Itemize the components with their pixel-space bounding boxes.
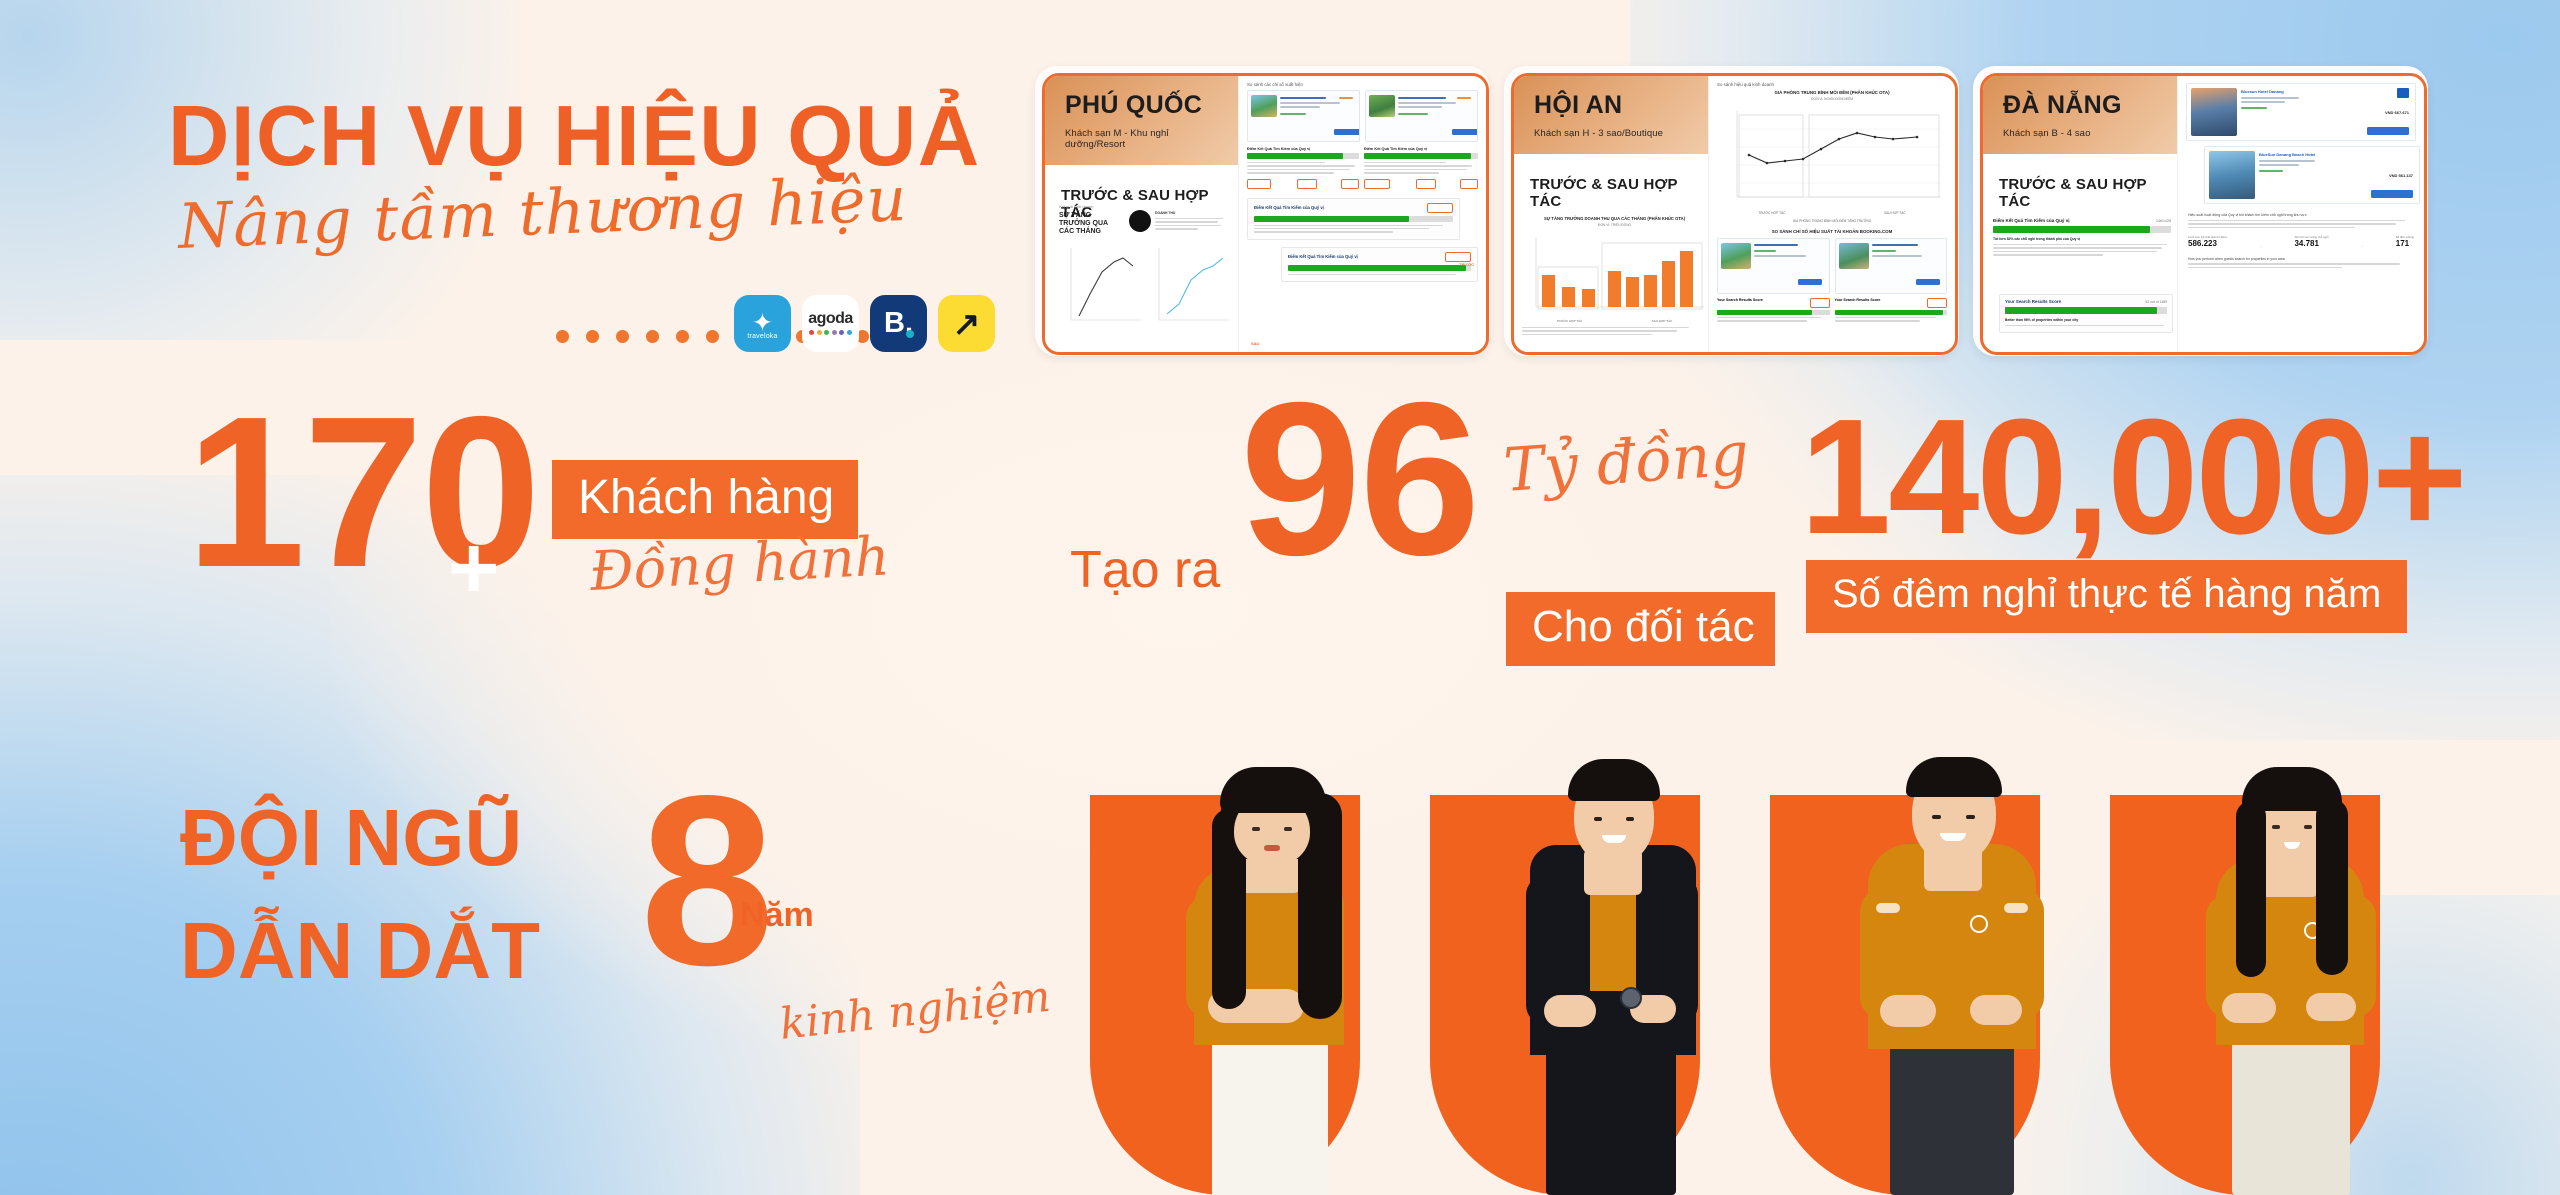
hotel-name-2: BlueSun Danang Beach Hotel [2259,152,2315,157]
card-report-panel: So sánh hiệu quả kinh doanh GIÁ PHÒNG TR… [1708,76,1955,352]
card-subtitle: Khách sạn M - Khu nghỉ dưỡng/Resort [1065,128,1228,150]
stat-room-nights-number: 140,000+ [1800,408,2465,546]
stat-clients-plus: + [448,524,499,612]
card-badge: PHÚ QUỐC Khách sạn M - Khu nghỉ dưỡng/Re… [1045,76,1238,165]
card-chart-caption: SỰ TĂNG TRƯỞNG QUA CÁC THÁNG [1059,212,1121,236]
card-score-value-en: 92 out of 1489 [2145,300,2167,304]
team-years-number: 8 [640,782,775,980]
card-section2-title: SO SÁNH CHỈ SỐ HIỆU SUẤT TÁI KHOẢN BOOKI… [1709,229,1955,234]
banner-root: DỊCH VỤ HIỆU QUẢ Nâng tầm thương hiệu ✦ … [0,0,2560,1195]
card-report-panel: Bluesun Hotel Danang VND 667.671 BlueSun… [2177,76,2424,352]
metric-1: 586.223 [2188,239,2227,248]
card-chart-caption: SỰ TĂNG TRƯỞNG DOANH THU QUA CÁC THÁNG (… [1522,216,1707,221]
hotel-price-2: VND 561.137 [2389,173,2413,178]
card-before-after-label: TRƯỚC & SAU HỢP TÁC [1999,176,2177,210]
card-bar-chart-block: SỰ TĂNG TRƯỞNG DOANH THU QUA CÁC THÁNG (… [1522,216,1707,337]
traveloka-wordmark: traveloka [747,333,777,340]
report-card-row: PHÚ QUỐC Khách sạn M - Khu nghỉ dưỡng/Re… [1035,66,2428,356]
expedia-logo-icon[interactable]: ↗ [938,295,995,352]
booking-dot [906,330,914,338]
booking-logo-icon[interactable]: B. [870,295,927,352]
team-years-unit: Năm [740,896,814,935]
stat-room-nights-pill: Số đêm nghỉ thực tế hàng năm [1806,560,2407,633]
team-member-4 [2158,690,2418,1195]
metric-3: 171 [2396,239,2414,248]
card-line-charts [1059,244,1234,336]
team-heading-block: ĐỘI NGŨ DẪN DẮT 8 Năm kinh nghiệm [180,800,540,990]
team-member-1 [1138,695,1398,1195]
card-badge: ĐÀ NẴNG Khách sạn B - 4 sao [1983,76,2177,154]
stat-revenue-prefix: Tạo ra [1070,540,1220,600]
report-card-hoi-an[interactable]: HỘI AN Khách sạn H - 3 sao/Boutique TRƯỚ… [1504,66,1959,356]
agoda-dots [809,330,852,335]
card-before-after-label: TRƯỚC & SAU HỢP TÁC [1530,176,1708,210]
team-heading-line2: DẪN DẮT [180,913,540,990]
traveloka-logo-icon[interactable]: ✦ traveloka [734,295,791,352]
stat-room-nights: 140,000+ Số đêm nghỉ thực tế hàng năm [1800,408,2465,546]
card-score-label-vi: Điểm Kết Quả Tìm Kiếm của Quý vị [1993,218,2070,223]
card-city-title: ĐÀ NẴNG [2003,92,2167,118]
expedia-arrow-glyph: ↗ [953,307,981,340]
team-member-3 [1820,685,2080,1195]
card-panel-title: GIÁ PHÒNG TRUNG BÌNH MỖI ĐÊM (PHÂN KHÚC … [1709,90,1955,95]
agoda-logo-icon[interactable]: agoda [802,295,859,352]
hotel-name-1: Bluesun Hotel Danang [2241,89,2284,94]
stat-clients: 170 + [186,402,539,583]
team-photo-group [1080,640,2560,1195]
team-heading-line1: ĐỘI NGŨ [180,800,540,877]
card-badge: HỘI AN Khách sạn H - 3 sao/Boutique [1514,76,1708,154]
traveloka-bird-glyph: ✦ [752,315,773,331]
card-city-title: PHÚ QUỐC [1065,92,1228,118]
stat-clients-pill: Khách hàng [552,460,858,539]
team-member-2 [1480,675,1740,1195]
partner-logo-row: ✦ traveloka agoda B. ↗ [734,295,995,352]
agoda-wordmark: agoda [808,312,853,326]
card-score-label-en: Your Search Results Score [2005,299,2061,304]
card-score-value-vi: 246/1428 [2156,219,2171,223]
card-panel-title: So sánh các chỉ số xuất hiện [1247,82,1486,87]
hotel-price-1: VND 667.671 [2385,110,2409,115]
card-subtitle: Khách sạn B - 4 sao [2003,128,2167,139]
report-card-da-nang[interactable]: ĐÀ NẴNG Khách sạn B - 4 sao TRƯỚC & SAU … [1973,66,2428,356]
report-card-phu-quoc[interactable]: PHÚ QUỐC Khách sạn M - Khu nghỉ dưỡng/Re… [1035,66,1490,356]
card-chart-block: Kết quả kinh doanh SỰ TĂNG TRƯỞNG QUA CÁ… [1059,204,1234,336]
metric-2: 34.781 [2294,239,2328,248]
card-report-panel: So sánh các chỉ số xuất hiện [1238,76,1486,352]
card-city-title: HỘI AN [1534,92,1698,118]
card-subtitle: Khách sạn H - 3 sao/Boutique [1534,128,1698,139]
stat-revenue-number: 96 [1240,388,1478,571]
